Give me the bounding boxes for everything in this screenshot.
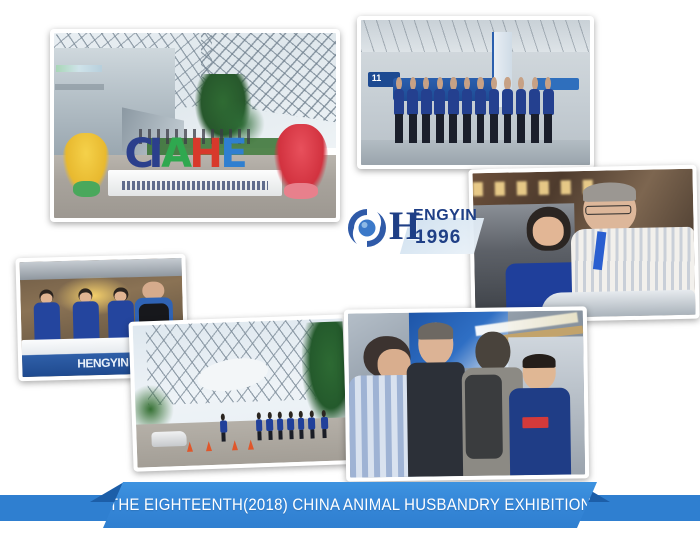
swirl-sphere-icon: [345, 206, 389, 250]
standing-person: [287, 411, 295, 440]
team-members: [393, 77, 562, 144]
photo-booth-discussion-image: [348, 310, 585, 477]
building-banner: [56, 65, 102, 73]
standing-person: [255, 412, 263, 441]
ciahe-letter-e: E: [220, 134, 247, 174]
photo-ciahe-entrance[interactable]: C I A H E: [50, 29, 340, 222]
traffic-cone: [248, 439, 254, 449]
photo-team-group-image: [361, 20, 590, 165]
photo-ciahe-entrance-image: C I A H E: [54, 33, 336, 218]
team-member: [447, 77, 459, 144]
hengyin-wordmark: H ENGYIN 1996: [389, 202, 475, 260]
hall-floor: [361, 140, 590, 165]
ciahe-letter-h: H: [189, 134, 222, 174]
hengyin-logo: H ENGYIN 1996: [345, 200, 475, 262]
glasses-icon: [585, 205, 631, 215]
standing-person: [276, 411, 284, 440]
building-shadow-band: [55, 84, 104, 89]
standing-person: [220, 413, 228, 442]
exhibition-title-text: THE EIGHTEENTH(2018) CHINA ANIMAL HUSBAN…: [109, 495, 592, 515]
team-member: [474, 77, 486, 144]
staff-face: [533, 217, 564, 247]
standing-person: [297, 411, 305, 440]
staff-person: [33, 289, 60, 343]
ribbon-body: THE EIGHTEENTH(2018) CHINA ANIMAL HUSBAN…: [103, 482, 597, 528]
mascot-pig: [274, 124, 328, 198]
team-member: [501, 77, 513, 144]
photo-visitor-conversation-image: [472, 169, 695, 320]
team-member: [461, 77, 473, 144]
team-member: [420, 77, 432, 144]
photo-venue-exterior-image: [133, 318, 348, 467]
logo-year: 1996: [415, 228, 461, 247]
team-member: [407, 77, 419, 144]
visitor-bald: [404, 322, 467, 477]
exhibition-collage-page: C I A H E: [0, 0, 700, 535]
counter-brand-label: HENGYIN: [77, 356, 129, 371]
team-member: [542, 77, 554, 144]
ceiling-lights: [473, 180, 594, 197]
standing-person: [266, 412, 274, 441]
team-member: [529, 77, 541, 144]
team-member: [393, 77, 405, 144]
photo-booth-discussion[interactable]: [344, 306, 589, 481]
team-member: [515, 77, 527, 144]
team-member: [488, 77, 500, 144]
standing-person: [320, 410, 328, 439]
exhibition-title-ribbon: THE EIGHTEENTH(2018) CHINA ANIMAL HUSBAN…: [0, 481, 700, 529]
photo-visitor-conversation[interactable]: [468, 165, 699, 324]
traffic-cone: [187, 441, 193, 451]
staff-person: [72, 288, 99, 342]
traffic-cone: [231, 440, 237, 450]
standing-person: [308, 410, 316, 439]
hall-ceiling: [361, 20, 590, 52]
parked-car: [151, 430, 187, 447]
mascot-cow: [62, 133, 110, 196]
ciahe-letter-a: A: [161, 134, 192, 174]
photo-team-group[interactable]: [357, 16, 594, 169]
team-member: [434, 77, 446, 144]
logo-wordmark-text: ENGYIN: [413, 208, 477, 224]
photo-venue-exterior[interactable]: [128, 314, 351, 472]
sales-representative: [508, 353, 571, 475]
traffic-cone: [206, 441, 212, 451]
plinth-chinese-text: [122, 181, 269, 190]
visitor-hair: [583, 182, 636, 202]
